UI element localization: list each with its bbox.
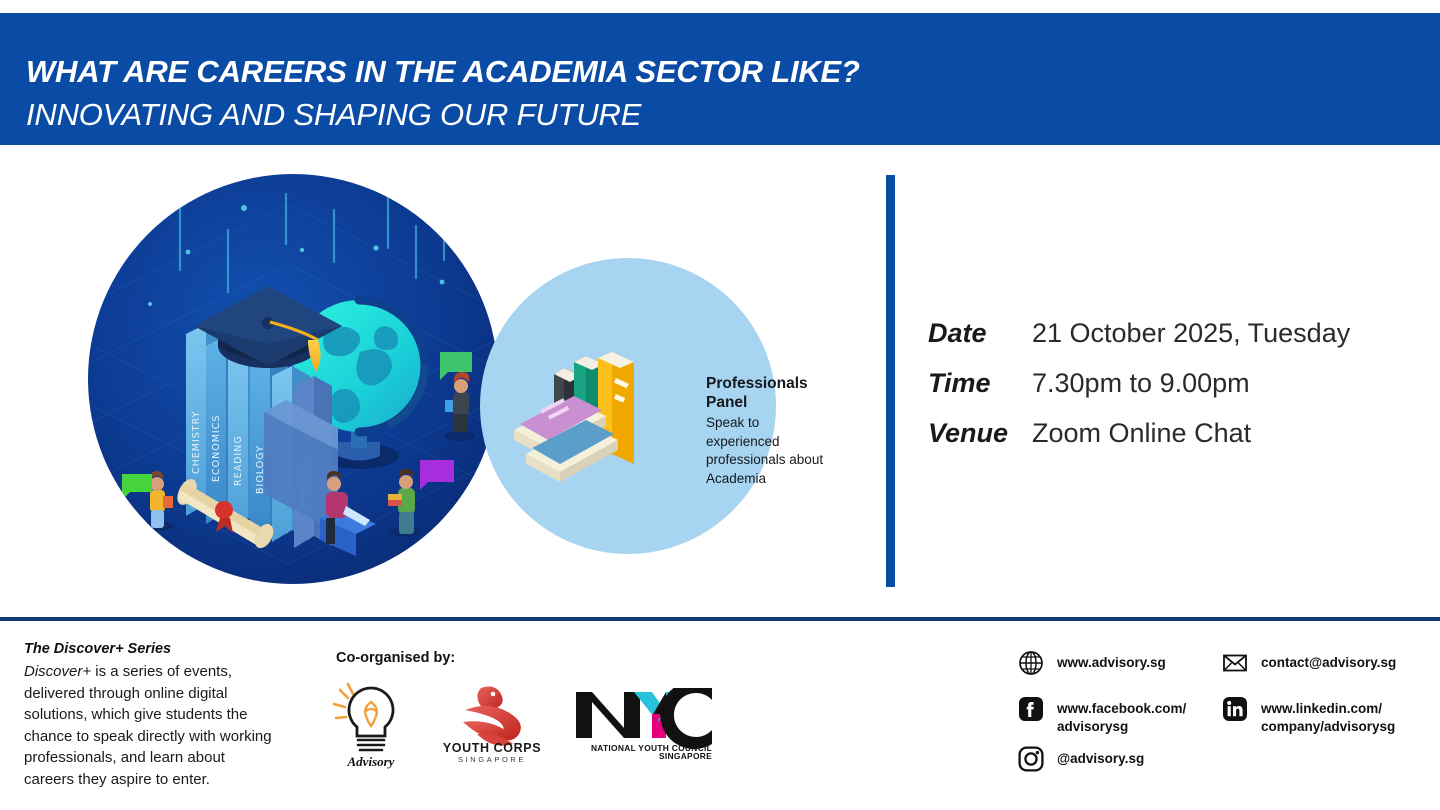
envelope-icon [1222, 650, 1248, 676]
detail-label-venue: Venue [928, 418, 1032, 449]
detail-value-time: 7.30pm to 9.00pm [1032, 368, 1250, 399]
contact-email[interactable]: contact@advisory.sg [1222, 650, 1396, 676]
event-details: Date 21 October 2025, Tuesday Time 7.30p… [928, 318, 1350, 468]
svg-text:READING: READING [233, 435, 244, 486]
advisory-wordmark: Advisory [347, 754, 395, 769]
discover-series-description: Discover+ is a series of events, deliver… [24, 661, 276, 790]
contact-email-label: contact@advisory.sg [1261, 650, 1396, 672]
panel-subtitle: Speak to experienced professionals about… [706, 414, 831, 488]
contact-linkedin-label: www.linkedin.com/ company/advisorysg [1261, 696, 1395, 735]
advisory-logo: Advisory [326, 678, 416, 770]
advisory-bulb-icon: Advisory [326, 678, 416, 770]
page-subtitle: INNOVATING AND SHAPING OUR FUTURE [26, 97, 641, 133]
youth-corps-logo: YOUTH CORPS SINGAPORE [437, 682, 547, 766]
contact-instagram[interactable]: @advisory.sg [1018, 746, 1144, 772]
footer-divider [0, 617, 1440, 621]
detail-row-date: Date 21 October 2025, Tuesday [928, 318, 1350, 349]
globe-icon [1018, 650, 1044, 676]
youth-corps-mark-icon: YOUTH CORPS SINGAPORE [437, 682, 547, 766]
nyc-line2: SINGAPORE [659, 751, 712, 760]
contact-website-label: www.advisory.sg [1057, 650, 1166, 672]
poster-canvas: WHAT ARE CAREERS IN THE ACADEMIA SECTOR … [0, 0, 1440, 810]
detail-value-date: 21 October 2025, Tuesday [1032, 318, 1350, 349]
detail-row-venue: Venue Zoom Online Chat [928, 418, 1350, 449]
contact-linkedin[interactable]: www.linkedin.com/ company/advisorysg [1222, 696, 1395, 735]
contact-facebook[interactable]: www.facebook.com/ advisorysg [1018, 696, 1186, 735]
nyc-mark-icon: NATIONAL YOUTH COUNCIL SINGAPORE [572, 688, 716, 760]
contact-info: www.advisory.sg contact@advisory.sg [1018, 650, 1438, 790]
facebook-icon [1018, 696, 1044, 722]
professionals-panel-circle: Professionals Panel Speak to experienced… [480, 258, 776, 554]
academia-scene-svg: CHEMISTRY ECONOMICS READING [88, 174, 498, 584]
contact-website[interactable]: www.advisory.sg [1018, 650, 1166, 676]
discover-series-rest: is a series of events, delivered through… [24, 663, 272, 788]
youth-corps-line2: SINGAPORE [458, 755, 526, 764]
instagram-icon [1018, 746, 1044, 772]
academia-illustration-circle: CHEMISTRY ECONOMICS READING [88, 174, 498, 584]
panel-title-line1: Professionals [706, 375, 808, 392]
co-organised-label: Co-organised by: [336, 650, 455, 666]
svg-text:CHEMISTRY: CHEMISTRY [191, 411, 202, 474]
page-title: WHAT ARE CAREERS IN THE ACADEMIA SECTOR … [26, 54, 860, 90]
youth-corps-line1: YOUTH CORPS [443, 741, 541, 755]
panel-title: Professionals Panel [706, 374, 836, 412]
detail-label-date: Date [928, 318, 1032, 349]
svg-text:ECONOMICS: ECONOMICS [211, 415, 222, 482]
header-banner: WHAT ARE CAREERS IN THE ACADEMIA SECTOR … [0, 13, 1440, 145]
detail-label-time: Time [928, 368, 1032, 399]
national-youth-council-logo: NATIONAL YOUTH COUNCIL SINGAPORE [572, 688, 716, 760]
contact-instagram-label: @advisory.sg [1057, 746, 1144, 768]
illustration-area: CHEMISTRY ECONOMICS READING [88, 174, 788, 586]
discover-plus-word: Discover+ [24, 663, 91, 680]
discover-series-title: The Discover+ Series [24, 641, 171, 657]
linkedin-icon [1222, 696, 1248, 722]
details-accent-bar [886, 175, 895, 587]
contact-facebook-label: www.facebook.com/ advisorysg [1057, 696, 1186, 735]
panel-title-line2: Panel [706, 394, 747, 411]
detail-row-time: Time 7.30pm to 9.00pm [928, 368, 1350, 399]
detail-value-venue: Zoom Online Chat [1032, 418, 1251, 449]
